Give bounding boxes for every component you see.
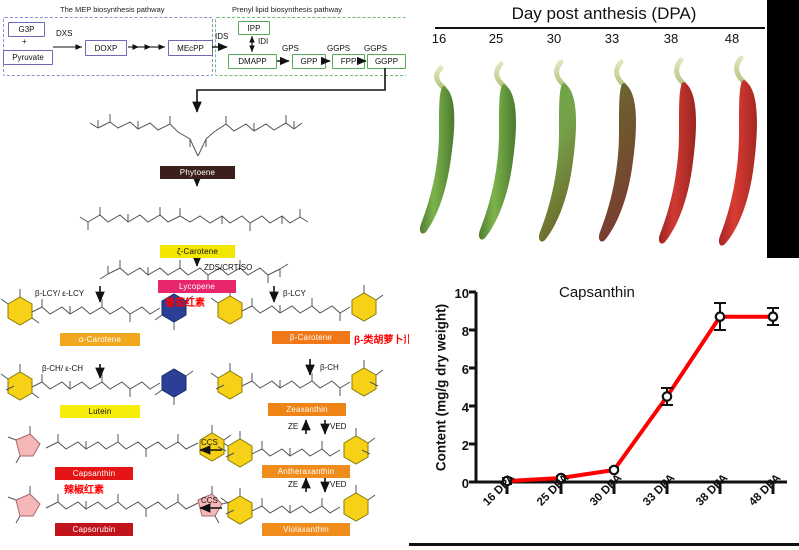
capsanthin-chinese-label: 辣椒红素 bbox=[64, 481, 104, 496]
enzyme-ved-2: VED bbox=[330, 480, 346, 489]
enzyme-ccs-2: CCS bbox=[201, 496, 218, 505]
chart-bottom-rule bbox=[409, 543, 799, 546]
pepper-series-title: Day post anthesis (DPA) bbox=[409, 4, 799, 24]
figure-root: The MEP biosynthesis pathway Prenyl lipi… bbox=[0, 0, 799, 550]
pepper-16 bbox=[420, 68, 454, 234]
chart-plot-area bbox=[409, 262, 799, 550]
compound-label-alpha-carotene: α-Carotene bbox=[60, 333, 140, 346]
panel-divider bbox=[406, 0, 408, 550]
pepper-series-panel: Day post anthesis (DPA) 16 25 30 33 38 4… bbox=[409, 0, 799, 258]
compound-label-lycopene: Lycopene bbox=[158, 280, 236, 293]
chart-data-markers bbox=[503, 313, 777, 486]
chart-series-line bbox=[507, 317, 773, 481]
lycopene-chinese-label: 番茄红素 bbox=[165, 294, 205, 309]
enzyme-ccs-1: CCS bbox=[201, 438, 218, 447]
dpa-label-16: 16 bbox=[419, 31, 459, 46]
dpa-label-48: 48 bbox=[712, 31, 752, 46]
dpa-label-33: 33 bbox=[592, 31, 632, 46]
compound-label-phytoene: Phytoene bbox=[160, 166, 235, 179]
pepper-illustrations bbox=[409, 48, 799, 256]
enzyme-bch: β-CH bbox=[320, 363, 339, 372]
right-black-band bbox=[767, 0, 799, 258]
compound-label-capsorubin: Capsorubin bbox=[55, 523, 133, 536]
enzyme-ved-1: VED bbox=[330, 422, 346, 431]
dpa-label-25: 25 bbox=[476, 31, 516, 46]
pepper-33 bbox=[599, 62, 636, 242]
chart-error-bars bbox=[502, 303, 779, 484]
enzyme-zds-crtiso: ZDS/CRTISO bbox=[204, 263, 252, 272]
pepper-25 bbox=[479, 64, 516, 240]
capsanthin-chart-panel: Content (mg/g dry weight) Capsanthin 10 … bbox=[409, 262, 799, 550]
compound-label-violaxanthin: Violaxanthin bbox=[262, 523, 350, 536]
dpa-label-30: 30 bbox=[534, 31, 574, 46]
compound-label-lutein: Lutein bbox=[60, 405, 140, 418]
dpa-label-38: 38 bbox=[651, 31, 691, 46]
enzyme-bch-ech: β-CH/ ε-CH bbox=[42, 364, 83, 373]
pepper-38 bbox=[659, 60, 696, 244]
enzyme-blcy-elcy: β-LCY/ ε-LCY bbox=[35, 289, 84, 298]
pathway-panel: The MEP biosynthesis pathway Prenyl lipi… bbox=[0, 0, 408, 550]
pepper-30 bbox=[539, 62, 576, 242]
enzyme-ze-1: ZE bbox=[288, 422, 298, 431]
compound-label-zeta-carotene: ζ-Carotene bbox=[160, 245, 235, 258]
compound-label-beta-carotene: β-Carotene bbox=[272, 331, 350, 344]
compound-label-antheraxanthin: Antheraxanthin bbox=[262, 465, 350, 478]
enzyme-blcy: β-LCY bbox=[283, 289, 306, 298]
pepper-48 bbox=[719, 58, 757, 246]
pepper-series-underline bbox=[435, 27, 765, 29]
beta-carotenoid-chinese-label: β-类胡萝卜素 bbox=[354, 331, 413, 346]
compound-label-capsanthin: Capsanthin bbox=[55, 467, 133, 480]
compound-label-zeaxanthin: Zeaxanthin bbox=[268, 403, 346, 416]
enzyme-ze-2: ZE bbox=[288, 480, 298, 489]
